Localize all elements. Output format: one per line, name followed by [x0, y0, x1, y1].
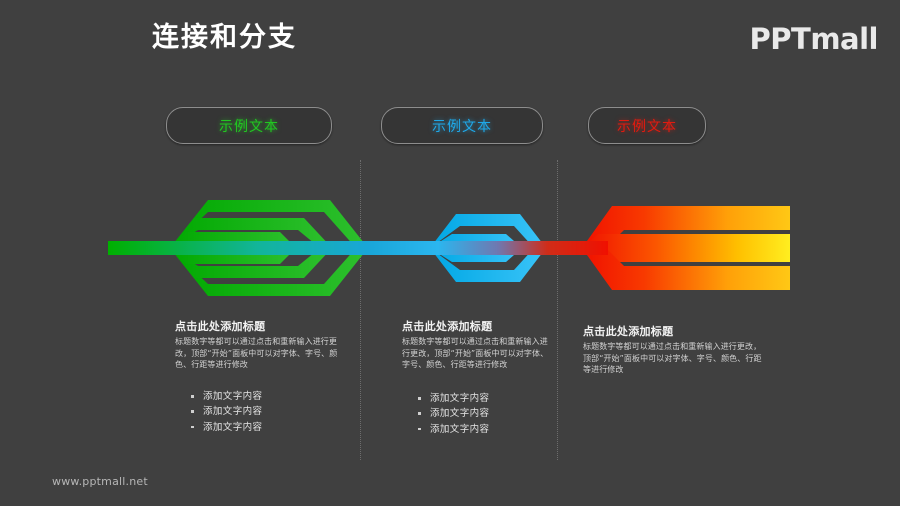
- list-item: 添加文字内容: [430, 391, 554, 406]
- tag-box-blue[interactable]: 示例文本: [381, 107, 543, 144]
- column-bullets-2: 添加文字内容 添加文字内容 添加文字内容: [402, 391, 554, 437]
- column-body-3: 标题数字等都可以通过点击和重新输入进行更改，顶部“开始”面板中可以对字体、字号、…: [583, 341, 769, 376]
- column-heading-3: 点击此处添加标题: [583, 325, 769, 339]
- list-item: 添加文字内容: [430, 406, 554, 421]
- red-branch-node: [582, 206, 790, 290]
- text-column-1: 点击此处添加标题 标题数字等都可以通过点击和重新输入进行更改，顶部“开始”面板中…: [175, 320, 347, 435]
- page-title: 连接和分支: [152, 22, 297, 54]
- tag-label-green: 示例文本: [219, 116, 279, 136]
- list-item: 添加文字内容: [430, 422, 554, 437]
- column-body-2: 标题数字等都可以通过点击和重新输入进行更改，顶部“开始”面板中可以对字体、字号、…: [402, 336, 554, 371]
- column-heading-2: 点击此处添加标题: [402, 320, 554, 334]
- pptmall-logo: PPTmall: [750, 22, 878, 56]
- column-body-1: 标题数字等都可以通过点击和重新输入进行更改，顶部“开始”面板中可以对字体、字号、…: [175, 336, 347, 371]
- column-heading-1: 点击此处添加标题: [175, 320, 347, 334]
- list-item: 添加文字内容: [203, 420, 347, 435]
- text-column-2: 点击此处添加标题 标题数字等都可以通过点击和重新输入进行更改，顶部“开始”面板中…: [402, 320, 554, 437]
- tag-label-blue: 示例文本: [432, 116, 492, 136]
- connector-spine: [108, 241, 608, 255]
- tag-box-red[interactable]: 示例文本: [588, 107, 706, 144]
- footer-url: www.pptmall.net: [52, 475, 148, 488]
- list-item: 添加文字内容: [203, 389, 347, 404]
- text-column-3: 点击此处添加标题 标题数字等都可以通过点击和重新输入进行更改，顶部“开始”面板中…: [583, 325, 769, 376]
- tag-label-red: 示例文本: [617, 116, 677, 136]
- list-item: 添加文字内容: [203, 404, 347, 419]
- connect-and-branch-diagram: [108, 186, 798, 310]
- tag-box-green[interactable]: 示例文本: [166, 107, 332, 144]
- column-bullets-1: 添加文字内容 添加文字内容 添加文字内容: [175, 389, 347, 435]
